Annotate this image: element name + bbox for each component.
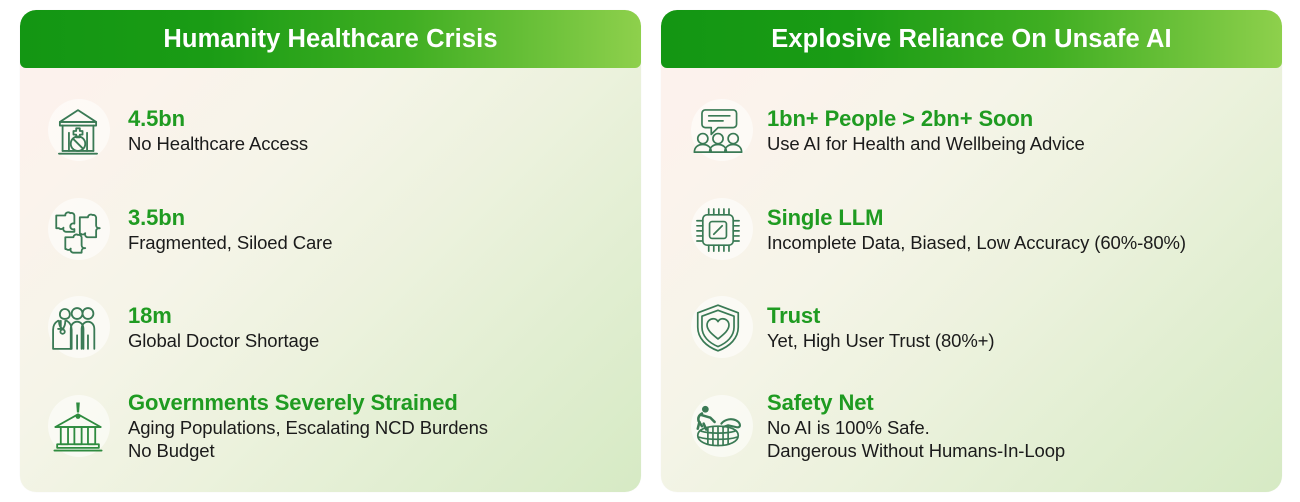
- panel-explosive-reliance-on-unsafe-ai: Explosive Reliance On Unsafe AI: [661, 10, 1282, 492]
- list-item: 1bn+ People > 2bn+ Soon Use AI for Healt…: [685, 89, 1262, 173]
- list-item-headline: 3.5bn: [128, 205, 332, 231]
- list-item-text: Single LLM Incomplete Data, Biased, Low …: [767, 205, 1186, 255]
- list-item-headline: 18m: [128, 303, 319, 329]
- list-item-sub: Dangerous Without Humans-In-Loop: [767, 439, 1065, 463]
- list-item: 4.5bn No Healthcare Access: [42, 89, 621, 173]
- panel-title-left: Humanity Healthcare Crisis: [163, 25, 497, 54]
- list-item-headline: 4.5bn: [128, 106, 308, 132]
- list-item-headline: Safety Net: [767, 390, 1065, 416]
- clinic-no-access-icon: [42, 95, 114, 167]
- list-item-sub: Use AI for Health and Wellbeing Advice: [767, 132, 1085, 156]
- microchip-icon: [685, 194, 751, 266]
- list-item: Single LLM Incomplete Data, Biased, Low …: [685, 188, 1262, 272]
- safety-net-icon: [685, 391, 751, 463]
- list-item-text: 18m Global Doctor Shortage: [128, 303, 319, 353]
- comparison-board: Humanity Healthcare Crisis: [0, 0, 1300, 502]
- list-item: 18m Global Doctor Shortage: [42, 286, 621, 370]
- list-item-headline: Governments Severely Strained: [128, 390, 488, 416]
- list-item-sub: Yet, High User Trust (80%+): [767, 329, 994, 353]
- list-item-text: 4.5bn No Healthcare Access: [128, 106, 308, 156]
- people-chat-bubble-icon: [685, 95, 751, 167]
- list-item-text: Trust Yet, High User Trust (80%+): [767, 303, 994, 353]
- list-item-text: 3.5bn Fragmented, Siloed Care: [128, 205, 332, 255]
- list-item: 3.5bn Fragmented, Siloed Care: [42, 188, 621, 272]
- list-item-headline: Trust: [767, 303, 994, 329]
- list-item: Safety Net No AI is 100% Safe. Dangerous…: [685, 385, 1262, 469]
- list-item-text: 1bn+ People > 2bn+ Soon Use AI for Healt…: [767, 106, 1085, 156]
- list-item-sub: No AI is 100% Safe.: [767, 416, 1065, 440]
- doctors-group-icon: [42, 292, 114, 364]
- list-item-sub: Incomplete Data, Biased, Low Accuracy (6…: [767, 231, 1186, 255]
- list-item-text: Governments Severely Strained Aging Popu…: [128, 390, 488, 464]
- shield-heart-icon: [685, 292, 751, 364]
- panel-header-right: Explosive Reliance On Unsafe AI: [661, 10, 1282, 68]
- panel-body-left: 4.5bn No Healthcare Access 3.5bn Fragmen…: [20, 68, 641, 492]
- list-item-sub: No Healthcare Access: [128, 132, 308, 156]
- panel-body-right: 1bn+ People > 2bn+ Soon Use AI for Healt…: [661, 68, 1282, 492]
- list-item-sub: Aging Populations, Escalating NCD Burden…: [128, 416, 488, 440]
- list-item-sub: Fragmented, Siloed Care: [128, 231, 332, 255]
- list-item-sub: No Budget: [128, 439, 488, 463]
- panel-title-right: Explosive Reliance On Unsafe AI: [771, 25, 1171, 54]
- list-item-headline: Single LLM: [767, 205, 1186, 231]
- government-building-alert-icon: [42, 391, 114, 463]
- panel-humanity-healthcare-crisis: Humanity Healthcare Crisis: [20, 10, 641, 492]
- list-item-text: Safety Net No AI is 100% Safe. Dangerous…: [767, 390, 1065, 464]
- list-item-headline: 1bn+ People > 2bn+ Soon: [767, 106, 1085, 132]
- list-item-sub: Global Doctor Shortage: [128, 329, 319, 353]
- puzzle-pieces-icon: [42, 194, 114, 266]
- panel-header-left: Humanity Healthcare Crisis: [20, 10, 641, 68]
- list-item: Governments Severely Strained Aging Popu…: [42, 385, 621, 469]
- list-item: Trust Yet, High User Trust (80%+): [685, 286, 1262, 370]
